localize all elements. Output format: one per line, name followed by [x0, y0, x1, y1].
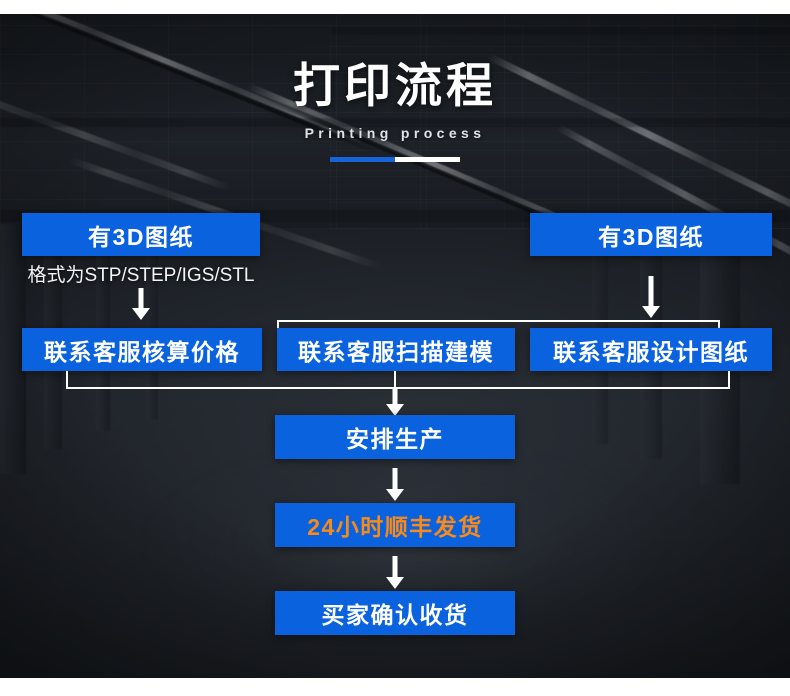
arrow-head: [132, 308, 150, 320]
connector-bottom-center-stem: [394, 371, 396, 389]
connector-top-horizontal: [277, 320, 720, 322]
printing-process-infographic: 打印流程 Printing process 有3D图纸 有3D图纸 格式为STP…: [0, 0, 790, 696]
top-white-strip: [0, 0, 790, 14]
divider-segment-blue: [330, 157, 395, 162]
page-subtitle: Printing process: [0, 125, 790, 141]
arrow-shaft: [393, 556, 398, 577]
arrow-head: [386, 489, 404, 501]
box-contact-service-scan-model[interactable]: 联系客服扫描建模: [277, 328, 515, 371]
down-arrow-icon: [382, 556, 408, 589]
down-arrow-icon: [382, 468, 408, 501]
box-has-3d-drawing-right[interactable]: 有3D图纸: [530, 213, 772, 256]
box-arrange-production[interactable]: 安排生产: [275, 415, 515, 459]
arrow-head: [642, 306, 660, 318]
down-arrow-icon: [382, 388, 408, 416]
arrow-shaft: [139, 288, 144, 308]
box-buyer-confirm-receipt[interactable]: 买家确认收货: [275, 591, 515, 635]
connector-top-left-stem: [277, 320, 279, 328]
connector-bottom-right-stem: [728, 371, 730, 389]
connector-bottom-left-stem: [66, 371, 68, 389]
down-arrow-icon: [638, 276, 664, 320]
divider-segment-white: [395, 157, 460, 162]
connector-top-right-stem: [718, 320, 720, 328]
box-contact-service-design[interactable]: 联系客服设计图纸: [530, 328, 772, 371]
box-24h-sf-shipping[interactable]: 24小时顺丰发货: [275, 503, 515, 547]
arrow-shaft: [649, 276, 654, 306]
arrow-shaft: [393, 388, 398, 404]
title-divider: [330, 157, 460, 162]
header: 打印流程 Printing process: [0, 60, 790, 162]
box-contact-service-quote[interactable]: 联系客服核算价格: [22, 328, 262, 371]
down-arrow-icon: [128, 288, 154, 320]
arrow-shaft: [393, 468, 398, 489]
page-title: 打印流程: [0, 60, 790, 113]
arrow-head: [386, 577, 404, 589]
box-has-3d-drawing-left[interactable]: 有3D图纸: [22, 213, 260, 256]
format-note: 格式为STP/STEP/IGS/STL: [22, 260, 260, 287]
bottom-white-strip: [0, 678, 790, 696]
